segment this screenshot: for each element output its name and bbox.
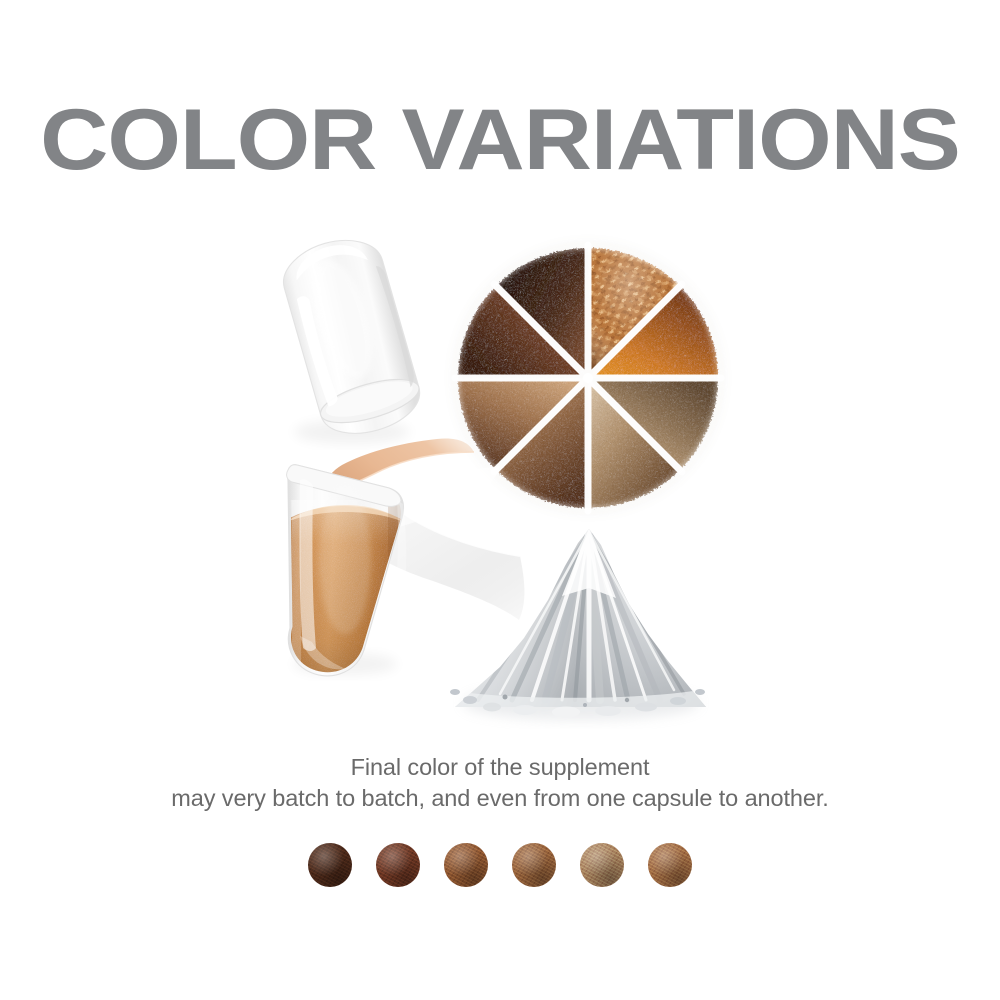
capsule-powder [284,506,406,690]
swatch-2 [376,843,420,887]
swatch-3 [444,843,488,887]
orange-brown-wedge [588,286,718,378]
dark-espresso-wedge [496,248,588,378]
swatch-shade [444,843,488,887]
swatch-4 [512,843,556,887]
capsule-cap [276,229,428,444]
tan-powder-ribbon [317,439,474,493]
swatch-shade [648,843,692,887]
swatch-shade [308,843,352,887]
flax-seeds-wedge [588,248,680,378]
caption: Final color of the supplement may very b… [0,752,1000,814]
powder-crumbs [450,689,705,718]
swatch-shade [580,843,624,887]
color-swatch-row [0,843,1000,887]
warm-brown-wedge [458,378,588,470]
swatch-shade [376,843,420,887]
reddish-brown-wedge [458,286,588,378]
light-tan-wedge [588,378,718,470]
capsule-rim [287,465,401,507]
page-title: COLOR VARIATIONS [0,96,1000,184]
swatch-6 [648,843,692,887]
color-variations-graphic: COLOR VARIATIONS [0,0,1000,1000]
caption-line-2: may very batch to batch, and even from o… [0,783,1000,814]
white-powder-ribbon [330,483,524,620]
swatch-5 [580,843,624,887]
capsule-shell [288,465,404,676]
powder-pile [440,515,720,720]
caption-line-1: Final color of the supplement [0,752,1000,783]
capsule-body [280,465,412,700]
ribbons [317,439,524,620]
swatch-shade [512,843,556,887]
wheel-separators [455,245,721,511]
beige-tan-wedge [588,378,680,508]
color-wheel [454,244,722,512]
mid-brown-wedge [496,378,588,508]
swatch-1 [308,843,352,887]
